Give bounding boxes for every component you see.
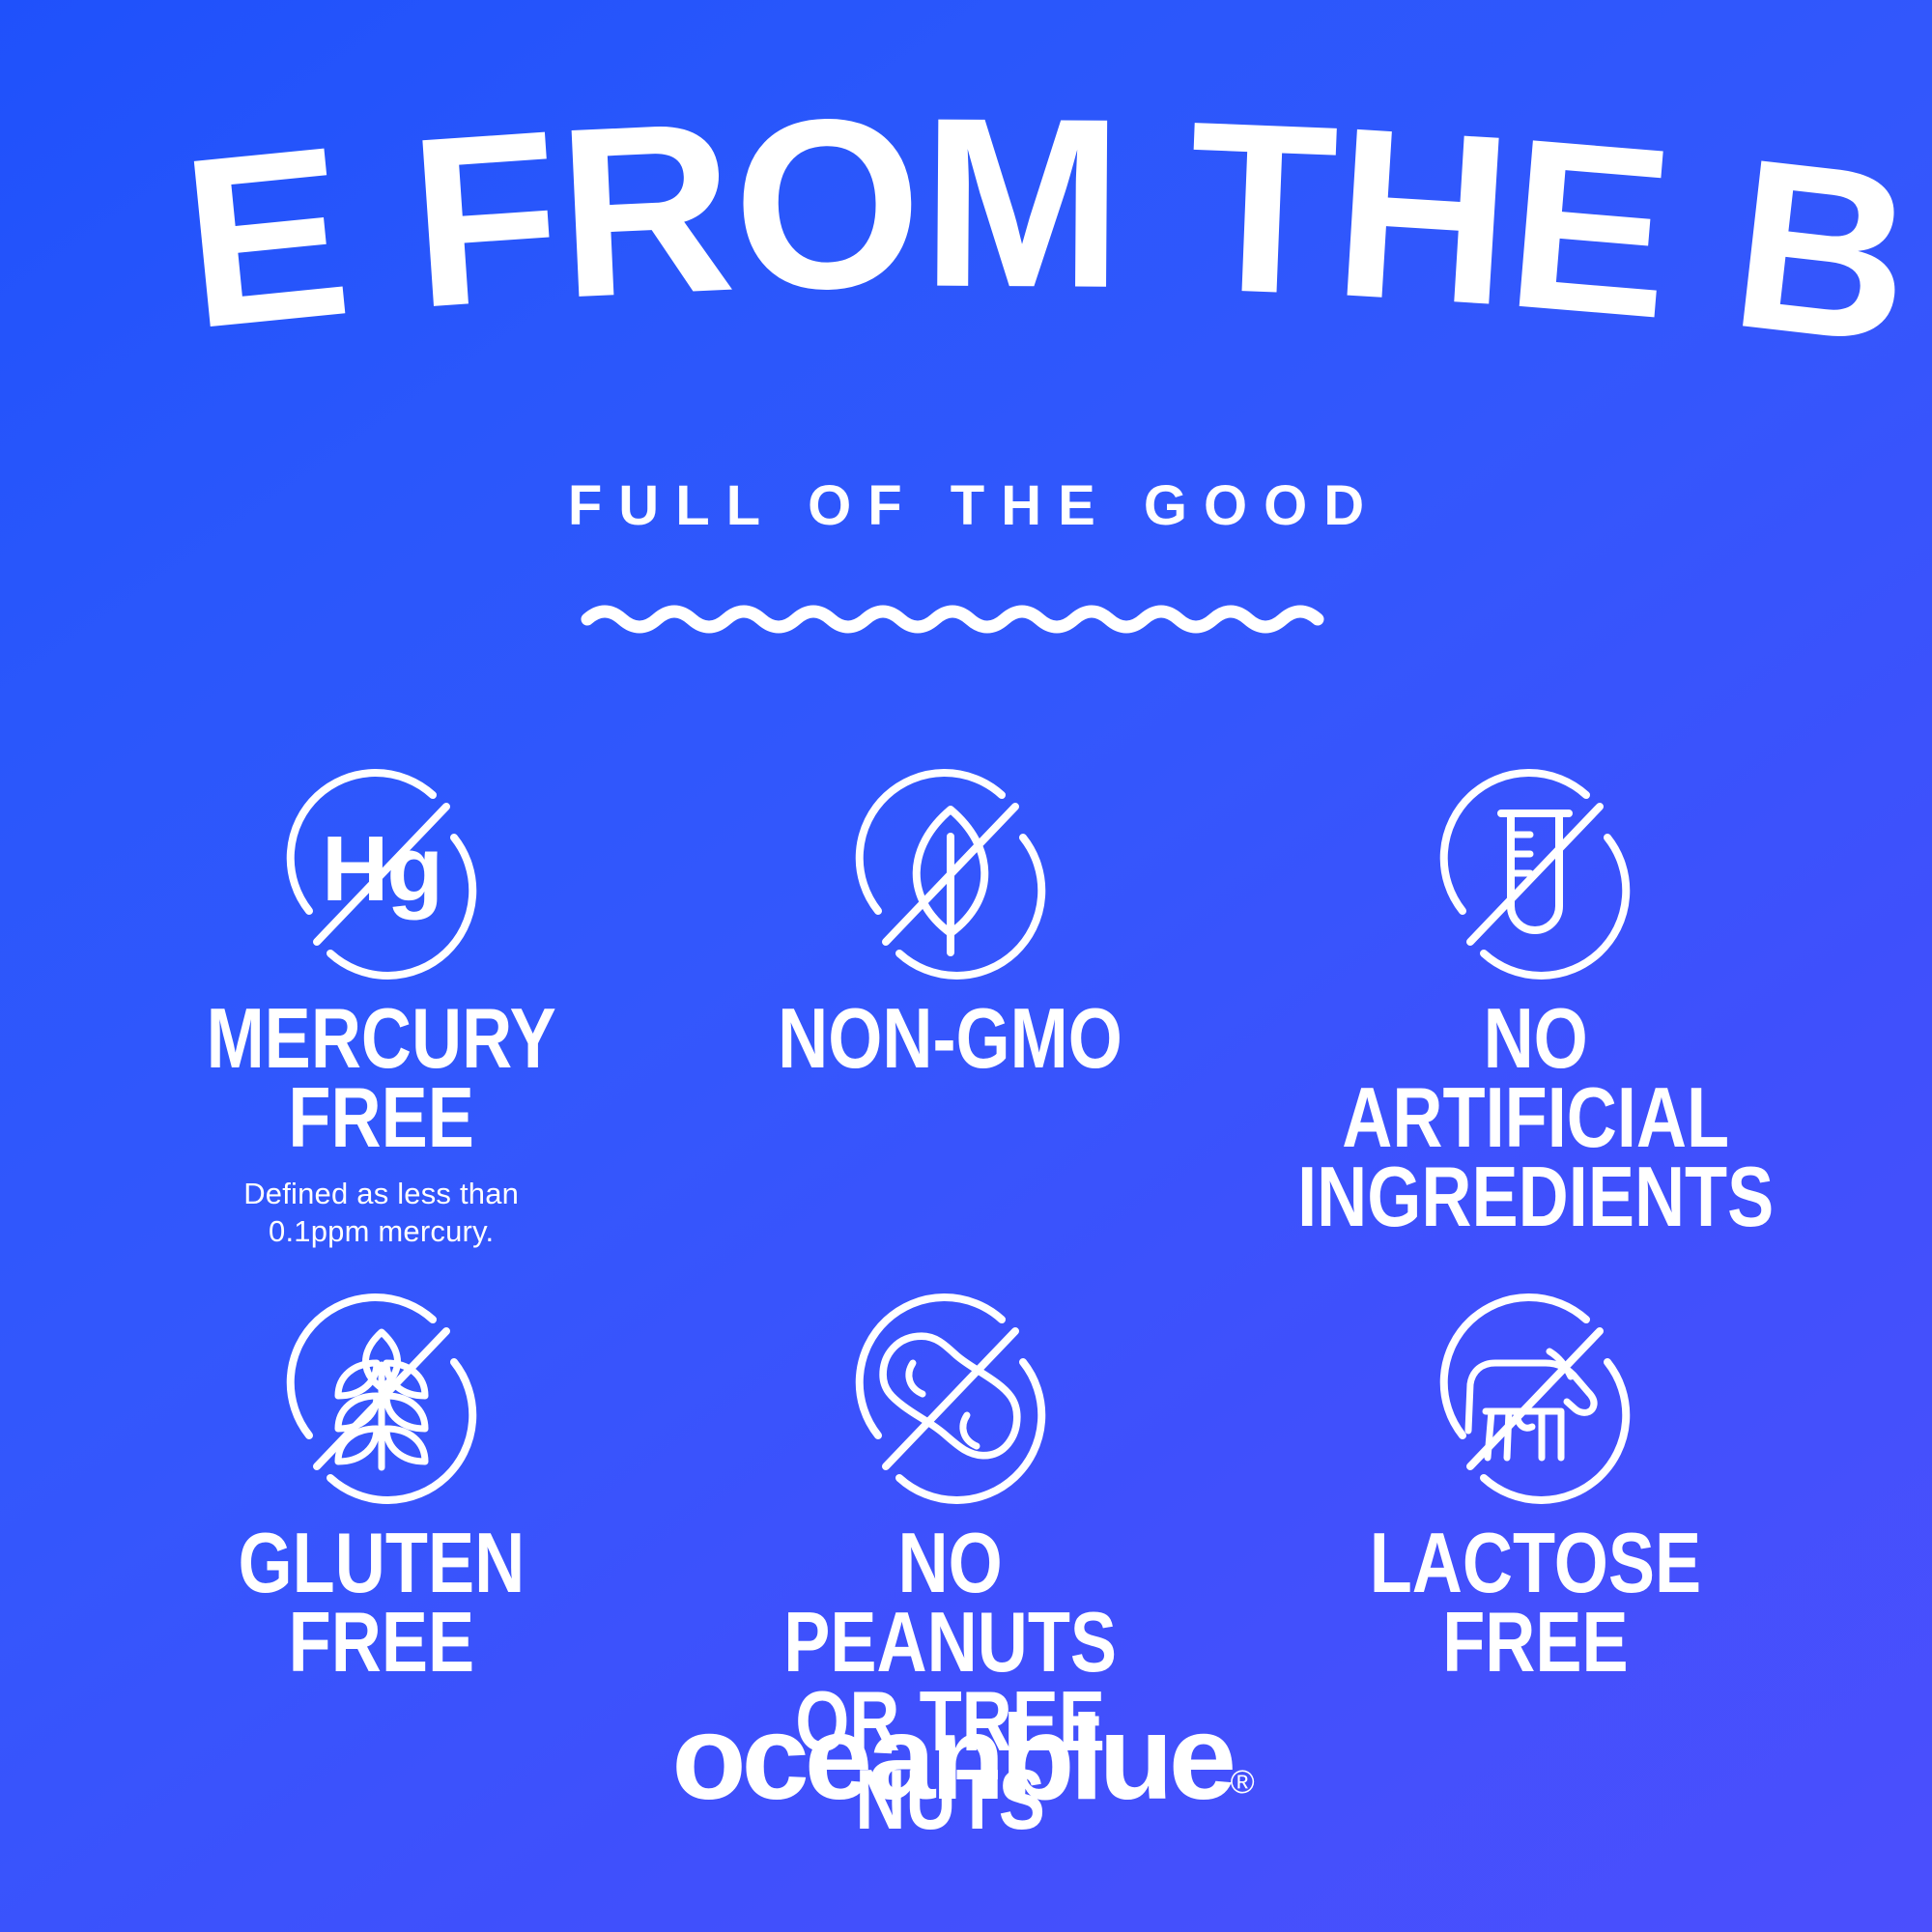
no-wheat-icon <box>270 1288 493 1510</box>
badge-label: GLUTEN FREE <box>238 1523 525 1682</box>
no-mercury-icon: Hg <box>270 763 493 985</box>
badge-label: NON-GMO <box>779 999 1123 1078</box>
badge-label: NO ARTIFICIAL INGREDIENTS <box>1297 999 1774 1236</box>
headline-text: FREE FROM THE BAD <box>0 93 1922 354</box>
subtitle-text: FULL OF THE GOOD <box>0 478 1932 534</box>
registered-trademark-icon: ® <box>1231 1764 1255 1801</box>
no-cow-icon <box>1424 1288 1646 1510</box>
badge-label: LACTOSE FREE <box>1370 1523 1701 1682</box>
headline-textpath: FREE FROM THE BAD <box>0 93 1922 354</box>
no-gmo-leaf-icon <box>839 763 1062 985</box>
badge-mercury-free: Hg MERCURY FREE Defined as less than 0.1… <box>97 763 666 1251</box>
badge-non-gmo: NON-GMO <box>666 763 1235 1251</box>
brand-logo-text: oceanblue <box>672 1698 1233 1818</box>
badge-note: Defined as less than 0.1ppm mercury. <box>243 1175 519 1251</box>
brand-logo: oceanblue® <box>0 1698 1932 1818</box>
no-test-tube-icon <box>1424 763 1646 985</box>
promo-poster: FREE FROM THE BAD FULL OF THE GOOD Hg <box>0 0 1932 1932</box>
headline-container: FREE FROM THE BAD <box>0 93 1932 354</box>
wave-divider <box>580 597 1352 641</box>
headline-arc-svg: FREE FROM THE BAD <box>0 93 1932 354</box>
benefits-grid: Hg MERCURY FREE Defined as less than 0.1… <box>97 763 1835 1839</box>
wave-divider-icon <box>580 597 1352 641</box>
mercury-symbol-text: Hg <box>322 817 441 921</box>
badge-no-artificial-ingredients: NO ARTIFICIAL INGREDIENTS <box>1236 763 1835 1251</box>
no-peanut-icon <box>839 1288 1062 1510</box>
badge-label: MERCURY FREE <box>156 999 607 1157</box>
